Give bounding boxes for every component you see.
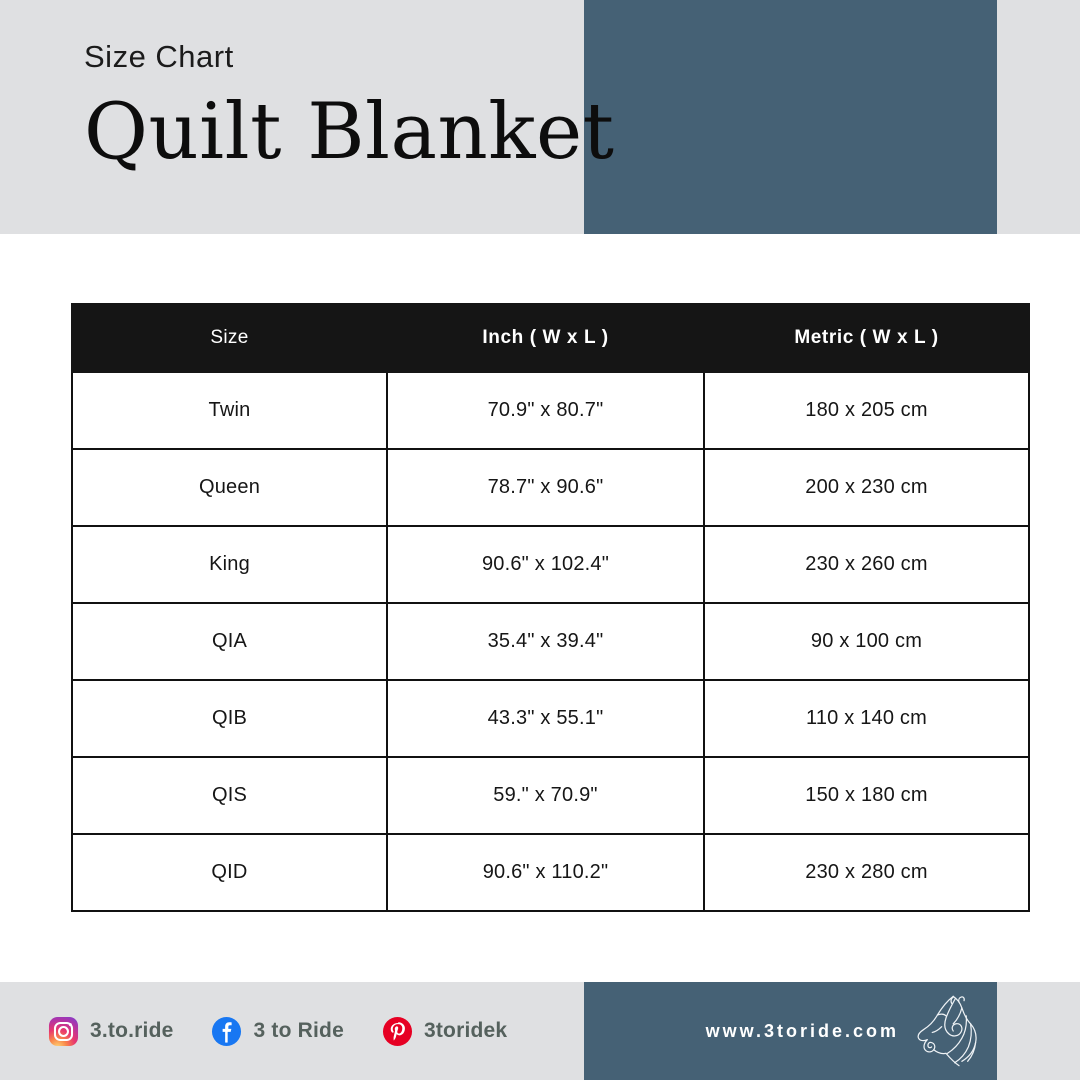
cell-inch: 35.4" x 39.4" [387, 603, 704, 680]
cell-size: QIS [72, 757, 387, 834]
facebook-icon [211, 1016, 242, 1047]
website-url[interactable]: www.3toride.com [706, 1021, 899, 1042]
cell-size: QID [72, 834, 387, 911]
cell-inch: 43.3" x 55.1" [387, 680, 704, 757]
social-link-pinterest[interactable]: 3toridek [382, 1016, 507, 1047]
social-links: 3.to.ride 3 to Ride 3toridek [48, 982, 507, 1080]
cell-size: King [72, 526, 387, 603]
kicker-label: Size Chart [84, 40, 574, 74]
cell-metric: 110 x 140 cm [704, 680, 1029, 757]
social-link-instagram[interactable]: 3.to.ride [48, 1016, 173, 1047]
table-row: QIA 35.4" x 39.4" 90 x 100 cm [72, 603, 1029, 680]
cell-size: QIA [72, 603, 387, 680]
social-handle-pinterest: 3toridek [424, 1019, 507, 1043]
size-table: Size Inch ( W x L ) Metric ( W x L ) Twi… [71, 303, 1030, 912]
table-row: QID 90.6" x 110.2" 230 x 280 cm [72, 834, 1029, 911]
size-table-wrapper: Size Inch ( W x L ) Metric ( W x L ) Twi… [71, 303, 1028, 912]
social-handle-instagram: 3.to.ride [90, 1019, 173, 1043]
cell-size: QIB [72, 680, 387, 757]
page-title: Quilt Blanket [84, 86, 574, 178]
table-body: Twin 70.9" x 80.7" 180 x 205 cm Queen 78… [72, 372, 1029, 911]
instagram-icon [48, 1016, 79, 1047]
table-row: QIB 43.3" x 55.1" 110 x 140 cm [72, 680, 1029, 757]
cell-metric: 200 x 230 cm [704, 449, 1029, 526]
horse-head-logo [909, 992, 983, 1070]
cell-metric: 150 x 180 cm [704, 757, 1029, 834]
table-row: Twin 70.9" x 80.7" 180 x 205 cm [72, 372, 1029, 449]
column-header-size: Size [72, 304, 387, 372]
cell-inch: 90.6" x 102.4" [387, 526, 704, 603]
header-accent-panel [584, 0, 997, 234]
column-header-inch: Inch ( W x L ) [387, 304, 704, 372]
table-header-row: Size Inch ( W x L ) Metric ( W x L ) [72, 304, 1029, 372]
table-head: Size Inch ( W x L ) Metric ( W x L ) [72, 304, 1029, 372]
size-chart-poster: Size Chart Quilt Blanket Size Inch ( W x… [0, 0, 1080, 1080]
social-link-facebook[interactable]: 3 to Ride [211, 1016, 343, 1047]
cell-inch: 90.6" x 110.2" [387, 834, 704, 911]
cell-inch: 59." x 70.9" [387, 757, 704, 834]
table-row: QIS 59." x 70.9" 150 x 180 cm [72, 757, 1029, 834]
table-row: Queen 78.7" x 90.6" 200 x 230 cm [72, 449, 1029, 526]
social-handle-facebook: 3 to Ride [253, 1019, 343, 1043]
cell-metric: 230 x 260 cm [704, 526, 1029, 603]
cell-metric: 180 x 205 cm [704, 372, 1029, 449]
header-text-group: Size Chart Quilt Blanket [84, 40, 574, 178]
column-header-metric: Metric ( W x L ) [704, 304, 1029, 372]
table-row: King 90.6" x 102.4" 230 x 260 cm [72, 526, 1029, 603]
cell-size: Queen [72, 449, 387, 526]
cell-inch: 78.7" x 90.6" [387, 449, 704, 526]
footer-accent-panel: www.3toride.com [584, 982, 997, 1080]
cell-inch: 70.9" x 80.7" [387, 372, 704, 449]
cell-metric: 90 x 100 cm [704, 603, 1029, 680]
cell-size: Twin [72, 372, 387, 449]
cell-metric: 230 x 280 cm [704, 834, 1029, 911]
pinterest-icon [382, 1016, 413, 1047]
